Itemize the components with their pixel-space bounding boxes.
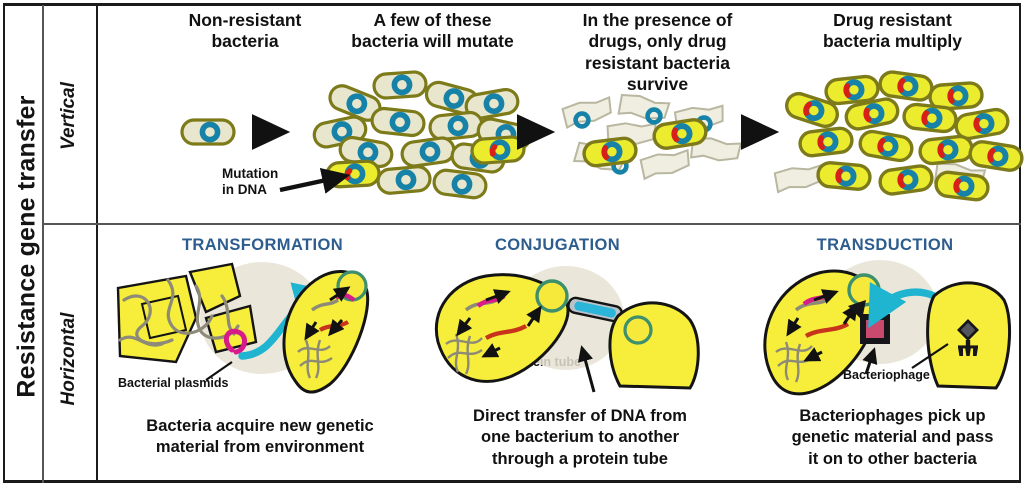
cell-debris-3 — [206, 306, 256, 352]
leader-bacteriophage-right — [912, 344, 948, 368]
surviving-bacterium-1 — [583, 137, 638, 167]
panel-caption-transformation: Bacteria acquire new geneticmaterial fro… — [110, 416, 410, 459]
transfer-arrow-cyan-transduction — [876, 292, 944, 314]
figure-border-left — [3, 3, 5, 483]
art-selection-cluster — [562, 93, 741, 179]
figure-border-top — [3, 3, 1021, 6]
art-resistant-cluster — [774, 70, 1023, 201]
row-label-horizontal: Horizontal — [58, 254, 80, 464]
nucleoid-strands — [298, 340, 332, 378]
recipient-bacterium-conjugation — [610, 303, 698, 388]
transfer-arrow-cyan — [242, 296, 320, 356]
free-dna-strands — [120, 280, 238, 345]
panel-caption-conjugation: Direct transfer of DNA fromone bacterium… — [435, 406, 725, 470]
panel-caption-transduction: Bacteriophages pick upgenetic material a… — [760, 406, 1024, 470]
row-label-vertical: Vertical — [58, 11, 80, 221]
annotation-bacteriophage: Bacteriophage — [843, 368, 973, 383]
panel-heading-transformation: TRANSFORMATION — [150, 236, 375, 255]
panel-heading-multiply: Drug resistantbacteria multiply — [790, 10, 995, 53]
mutant-bacterium-1 — [326, 161, 379, 188]
cell-debris-2 — [190, 264, 240, 312]
divider-vertical-horizontal-rows — [44, 223, 1021, 225]
figure-side-title: Resistance gene transfer — [13, 12, 42, 482]
internal-arrows — [306, 288, 348, 338]
bacteriophage-icon — [957, 319, 979, 356]
panel-heading-conjugation: CONJUGATION — [455, 236, 660, 255]
art-mutating-cluster — [312, 71, 532, 199]
plasmid-magenta — [226, 331, 244, 352]
art-conjugation — [436, 266, 698, 392]
divider-row-label-column — [96, 5, 98, 483]
panel-heading-transduction: TRANSDUCTION — [780, 236, 990, 255]
art-transformation — [118, 262, 368, 392]
panel-heading-selection: In the presence ofdrugs, only drugresist… — [555, 10, 760, 95]
protein-tube — [567, 297, 623, 323]
resistance-gene-transfer-figure: Resistance gene transfer Vertical Horizo… — [0, 0, 1024, 486]
panel-heading-non-resistant: Non-resistantbacteria — [150, 10, 340, 53]
art-single-bacterium — [182, 120, 234, 144]
cell-debris-1 — [118, 276, 196, 362]
surviving-bacterium-2 — [652, 118, 707, 150]
divider-title-column — [42, 5, 44, 483]
annotation-mutation-in-dna: Mutationin DNA — [222, 166, 322, 198]
annotation-protein-tube: Protein tube — [508, 355, 638, 370]
phage-injecting — [848, 300, 890, 344]
annotation-bacterial-plasmids: Bacterial plasmids — [118, 376, 278, 391]
recipient-bacterium — [284, 271, 368, 392]
figure-border-bottom — [3, 480, 1021, 483]
mutant-bacterium-2 — [471, 136, 525, 164]
panel-heading-mutation: A few of thesebacteria will mutate — [325, 10, 540, 53]
